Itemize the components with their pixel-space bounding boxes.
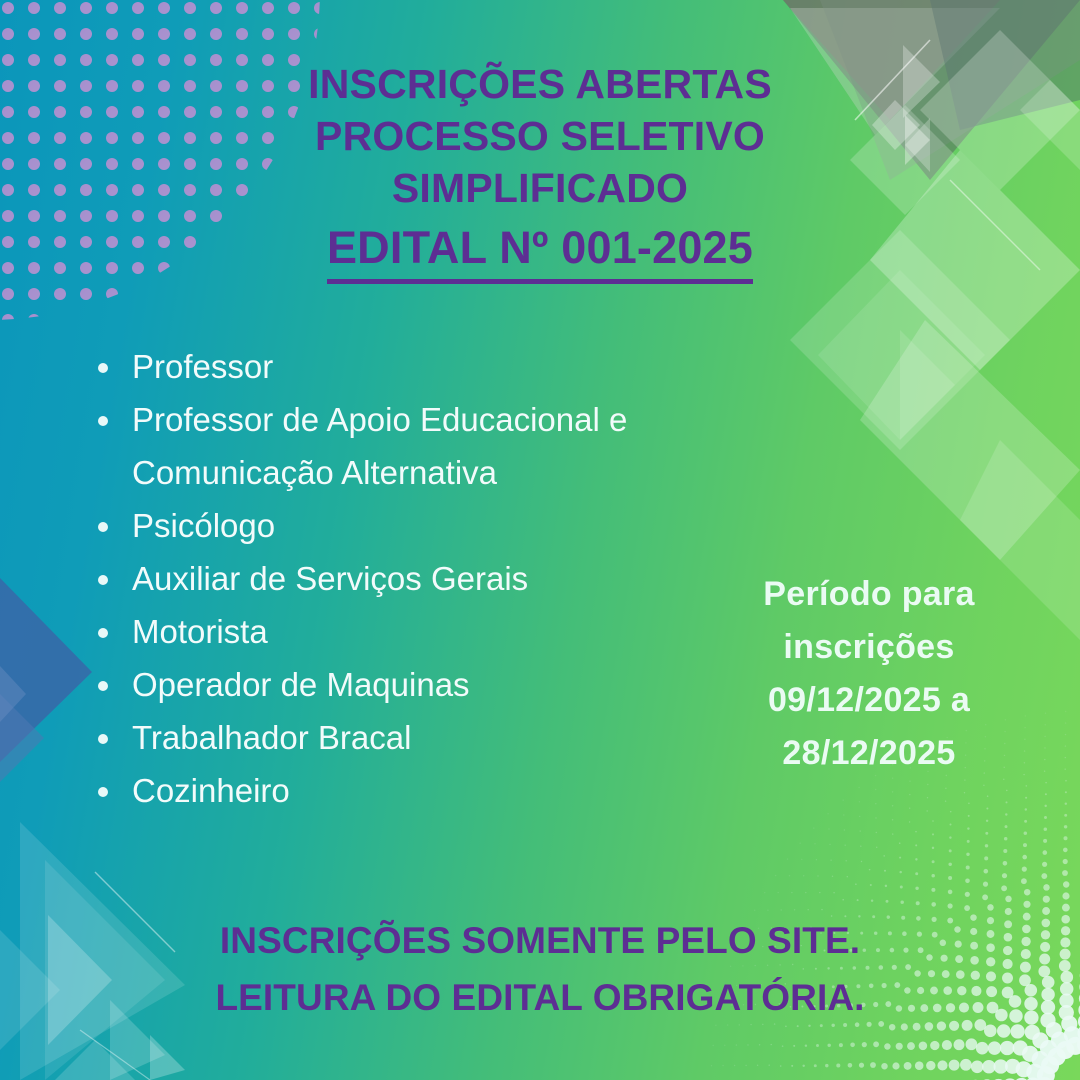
footer-line-1: INSCRIÇÕES SOMENTE PELO SITE. xyxy=(0,912,1080,969)
headline-line-2: PROCESSO SELETIVO xyxy=(0,110,1080,162)
list-item: Cozinheiro xyxy=(92,764,752,817)
period-end-date: 28/12/2025 xyxy=(704,727,1034,780)
headline-line-1: INSCRIÇÕES ABERTAS xyxy=(0,58,1080,110)
list-item: Operador de Maquinas xyxy=(92,658,752,711)
content-layer: INSCRIÇÕES ABERTAS PROCESSO SELETIVO SIM… xyxy=(0,0,1080,1080)
list-item: Professor de Apoio Educacional e Comunic… xyxy=(92,393,752,499)
list-item: Auxiliar de Serviços Gerais xyxy=(92,552,752,605)
edital-number: EDITAL Nº 001-2025 xyxy=(327,218,753,284)
list-item: Motorista xyxy=(92,605,752,658)
headline-line-3: SIMPLIFICADO xyxy=(0,162,1080,214)
period-label-line-2: inscrições xyxy=(704,621,1034,674)
vacancy-list: Professor Professor de Apoio Educacional… xyxy=(92,340,752,817)
page-title: INSCRIÇÕES ABERTAS PROCESSO SELETIVO SIM… xyxy=(0,58,1080,284)
registration-period-block: Período para inscrições 09/12/2025 a 28/… xyxy=(704,568,1034,780)
footer-notice: INSCRIÇÕES SOMENTE PELO SITE. LEITURA DO… xyxy=(0,912,1080,1026)
poster-canvas: INSCRIÇÕES ABERTAS PROCESSO SELETIVO SIM… xyxy=(0,0,1080,1080)
period-start-date: 09/12/2025 a xyxy=(704,674,1034,727)
list-item: Professor xyxy=(92,340,752,393)
footer-line-2: LEITURA DO EDITAL OBRIGATÓRIA. xyxy=(0,969,1080,1026)
list-item: Trabalhador Bracal xyxy=(92,711,752,764)
period-label-line-1: Período para xyxy=(704,568,1034,621)
list-item: Psicólogo xyxy=(92,499,752,552)
